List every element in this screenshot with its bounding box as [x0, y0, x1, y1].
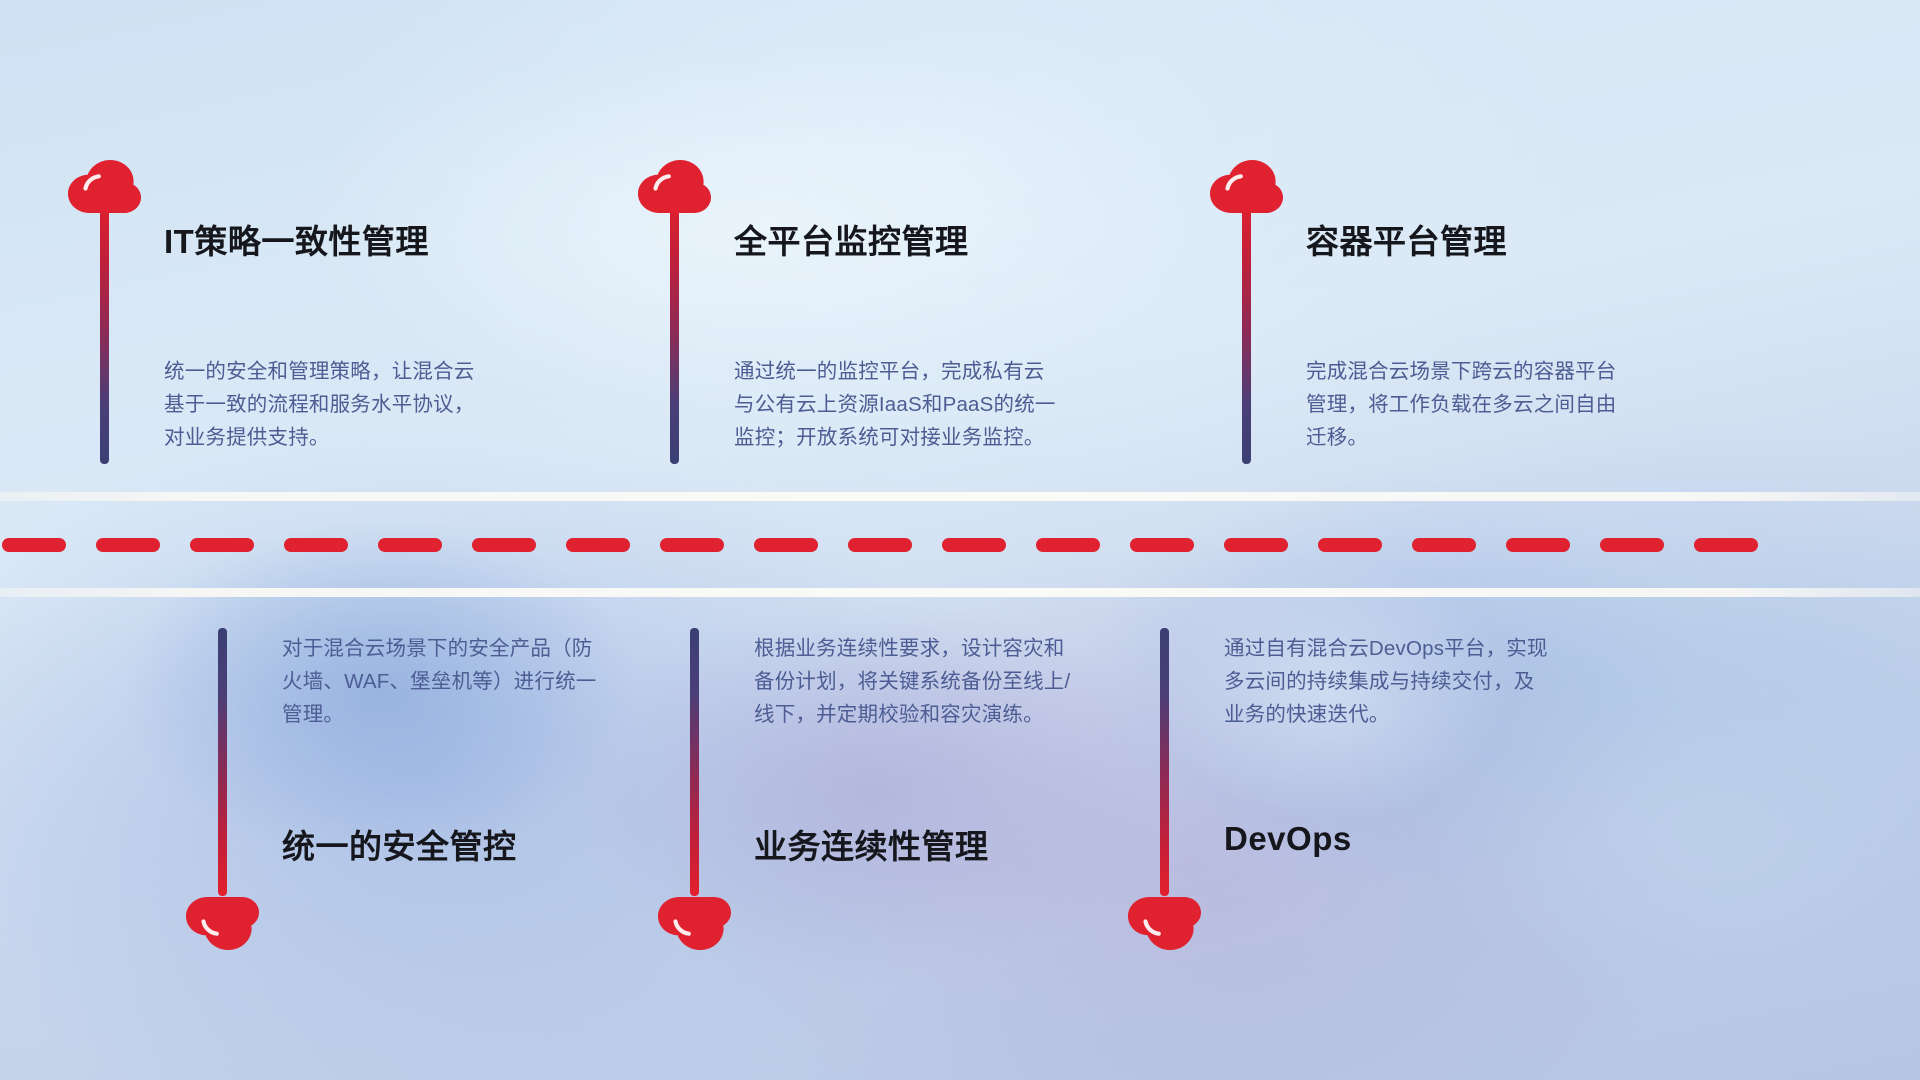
road-dash — [2, 538, 66, 552]
card-description: 对于混合云场景下的安全产品（防火墙、WAF、堡垒机等）进行统一管理。 — [282, 632, 612, 731]
road-dash — [660, 538, 724, 552]
road-dash — [1318, 538, 1382, 552]
road-dash — [1036, 538, 1100, 552]
road-dash — [284, 538, 348, 552]
card-title: 容器平台管理 — [1306, 215, 1507, 263]
road-dash — [566, 538, 630, 552]
cloud-icon — [1209, 160, 1283, 214]
road-dash — [942, 538, 1006, 552]
card-description: 完成混合云场景下跨云的容器平台管理，将工作负载在多云之间自由迁移。 — [1306, 355, 1636, 454]
card-description: 根据业务连续性要求，设计容灾和备份计划，将关键系统备份至线上/线下，并定期校验和… — [754, 632, 1084, 731]
card-description: 通过自有混合云DevOps平台，实现多云间的持续集成与持续交付，及业务的快速迭代… — [1224, 632, 1554, 731]
cloud-down-icon — [657, 896, 731, 950]
pin-stem — [218, 628, 227, 896]
road-dash — [190, 538, 254, 552]
card-title: 全平台监控管理 — [734, 215, 969, 263]
card-description: 统一的安全和管理策略，让混合云基于一致的流程和服务水平协议，对业务提供支持。 — [164, 355, 494, 454]
road-dash — [1412, 538, 1476, 552]
road-edge-line-bottom — [0, 588, 1920, 597]
road-dash — [848, 538, 912, 552]
pin-stem — [100, 196, 109, 464]
cloud-down-icon — [1127, 896, 1201, 950]
road-dash — [1506, 538, 1570, 552]
road-dash — [1600, 538, 1664, 552]
road-edge-line-top — [0, 492, 1920, 501]
pin-stem — [670, 196, 679, 464]
cloud-icon — [637, 160, 711, 214]
card-title: DevOps — [1224, 820, 1352, 858]
road-dash — [754, 538, 818, 552]
road-dash — [1130, 538, 1194, 552]
road-dash — [472, 538, 536, 552]
road-dash — [1694, 538, 1758, 552]
road-dashed-centerline — [0, 538, 1920, 552]
pin-stem — [1242, 196, 1251, 464]
card-title: 统一的安全管控 — [282, 820, 517, 868]
road-dash — [96, 538, 160, 552]
cloud-icon — [67, 160, 141, 214]
card-description: 通过统一的监控平台，完成私有云与公有云上资源IaaS和PaaS的统一监控；开放系… — [734, 355, 1064, 454]
infographic-canvas: IT策略一致性管理 统一的安全和管理策略，让混合云基于一致的流程和服务水平协议，… — [0, 0, 1920, 1080]
cloud-down-icon — [185, 896, 259, 950]
road-dash — [378, 538, 442, 552]
road-dash — [1224, 538, 1288, 552]
card-title: IT策略一致性管理 — [164, 215, 429, 263]
pin-stem — [690, 628, 699, 896]
pin-stem — [1160, 628, 1169, 896]
card-title: 业务连续性管理 — [754, 820, 989, 868]
